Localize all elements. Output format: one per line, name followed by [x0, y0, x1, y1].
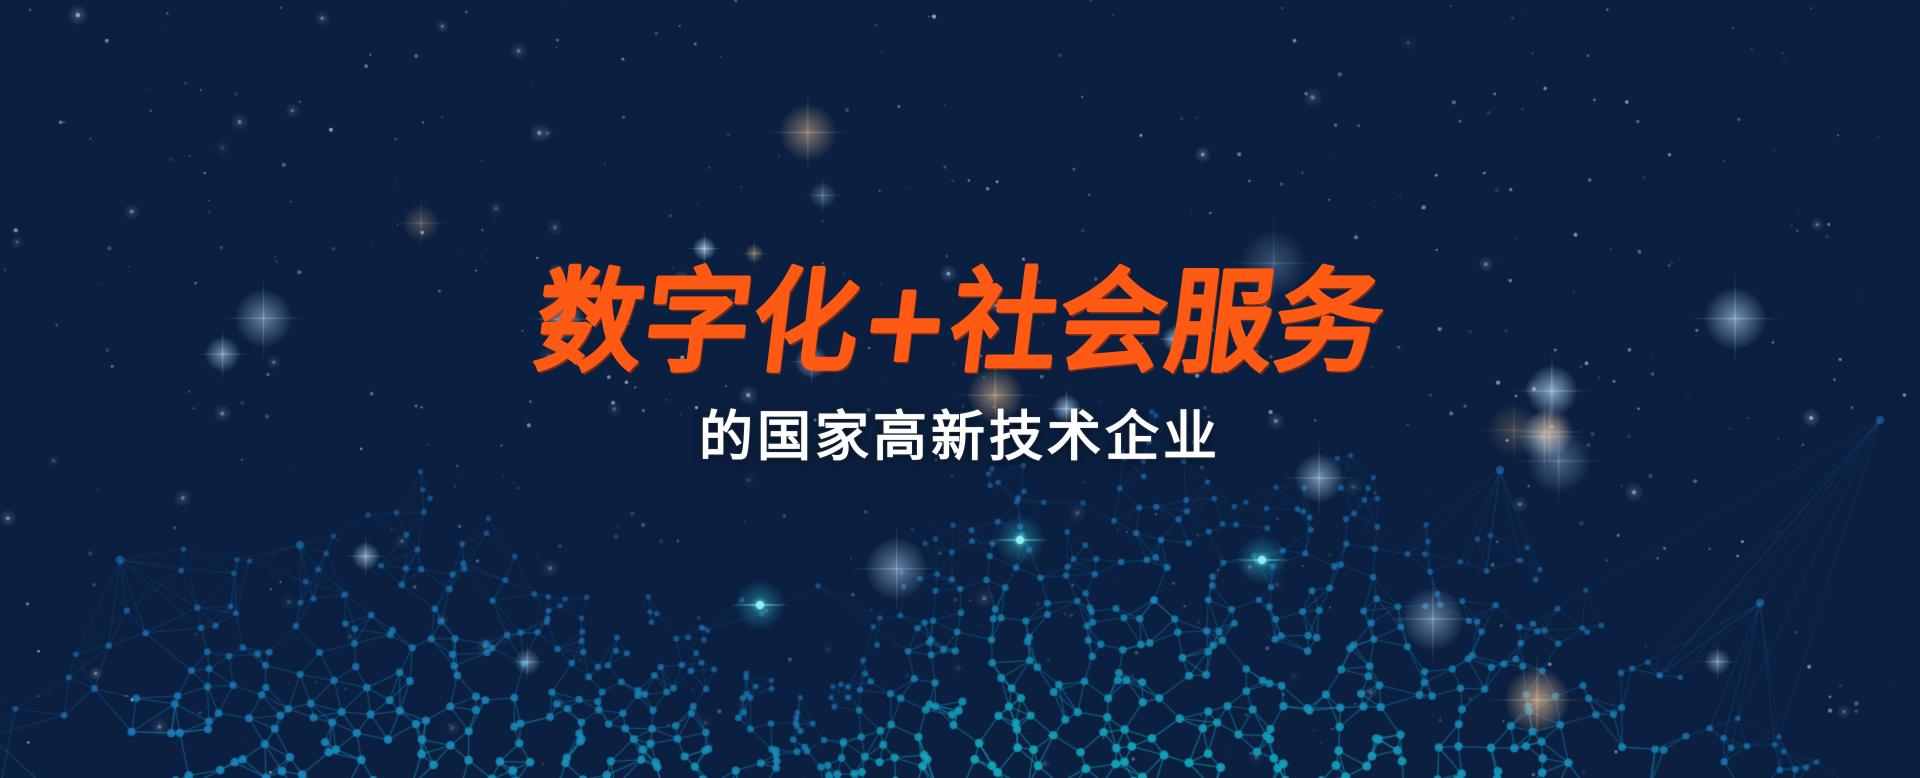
hero-banner: 数字化+社会服务 的国家高新技术企业	[0, 0, 1920, 778]
low-poly-network-mesh	[0, 0, 1920, 778]
